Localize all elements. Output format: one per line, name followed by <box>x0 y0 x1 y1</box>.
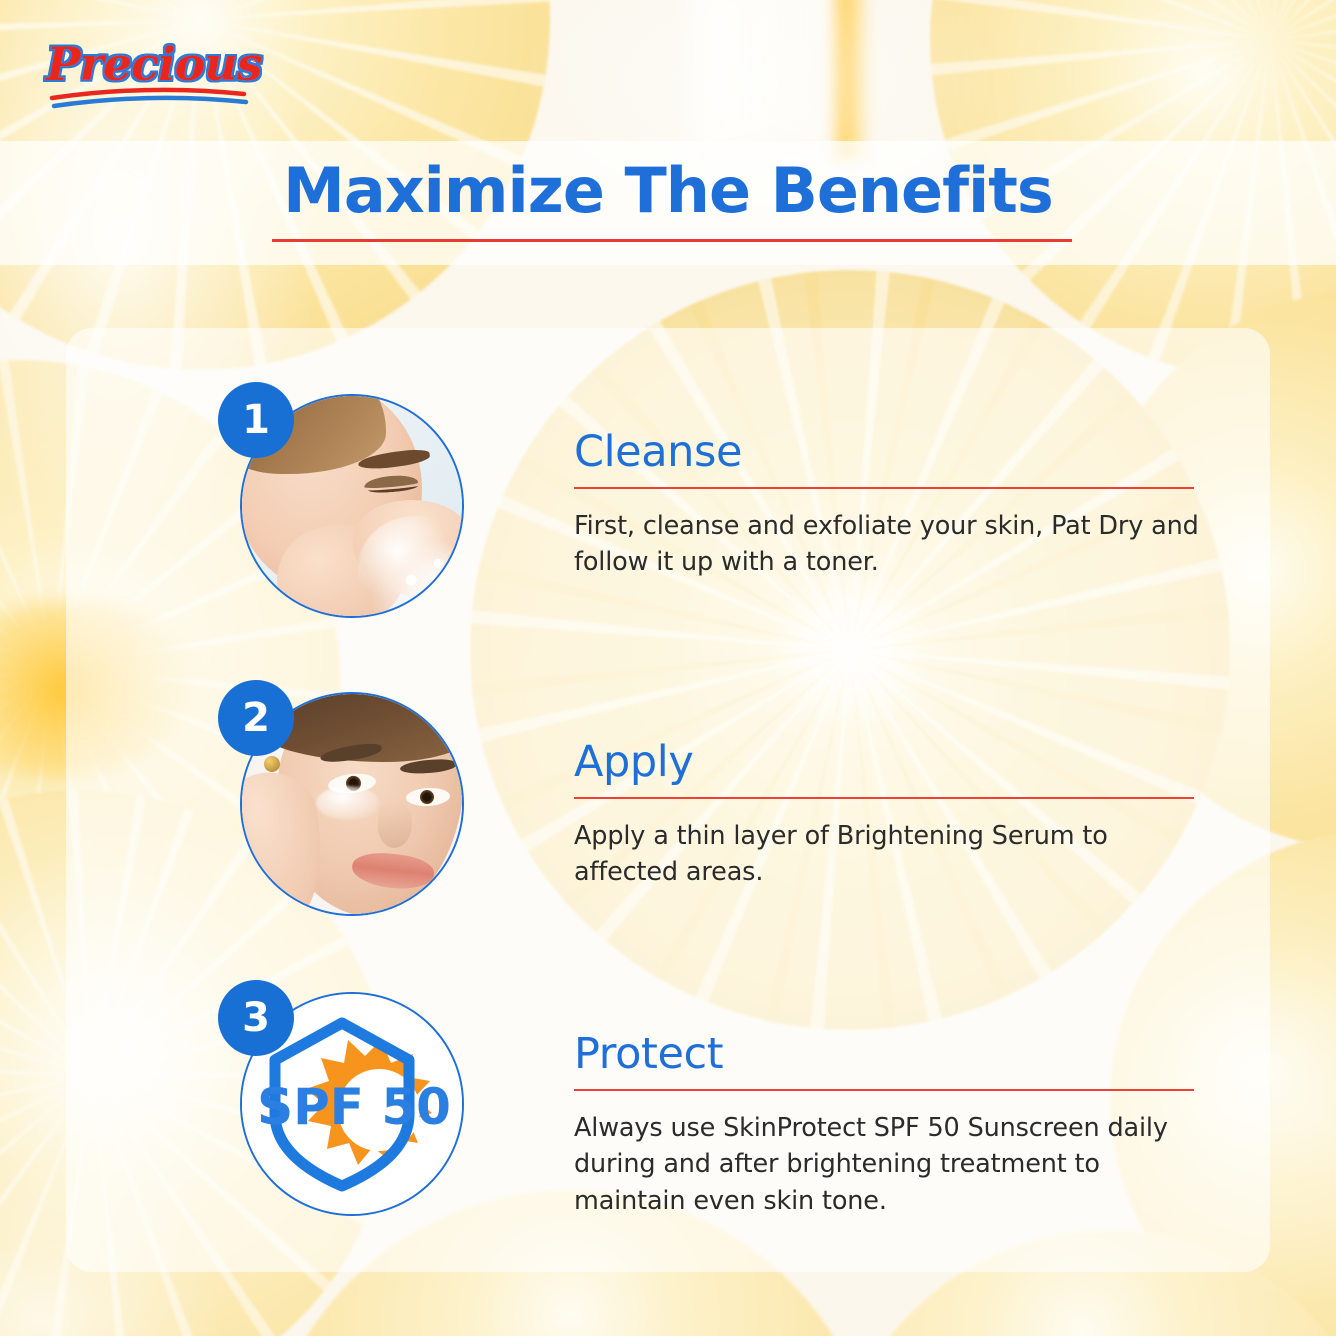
brand-logo: Precious ® <box>38 28 278 116</box>
step-2-media: 2 <box>218 680 458 920</box>
step-2-text: Apply Apply a thin layer of Brightening … <box>574 740 1214 891</box>
steps-card: 1 Cleanse First, cleanse and exfoliate y… <box>66 328 1270 1272</box>
step-number-badge-1: 1 <box>218 382 294 458</box>
step-1-heading-underline <box>574 487 1194 489</box>
title-underline <box>272 239 1072 242</box>
step-item-3: SPF 50 3 Protect Always use SkinProtect … <box>218 980 1214 1220</box>
step-1-body: First, cleanse and exfoliate your skin, … <box>574 508 1214 580</box>
spf-50-label: SPF 50 <box>257 1078 451 1136</box>
step-2-heading: Apply <box>574 740 1214 785</box>
step-3-body: Always use SkinProtect SPF 50 Sunscreen … <box>574 1110 1214 1219</box>
step-1-heading: Cleanse <box>574 430 1214 475</box>
svg-text:Precious: Precious <box>44 37 262 91</box>
step-3-heading-underline <box>574 1089 1194 1091</box>
step-2-heading-underline <box>574 797 1194 799</box>
step-3-text: Protect Always use SkinProtect SPF 50 Su… <box>574 1032 1214 1219</box>
step-number-badge-3: 3 <box>218 980 294 1056</box>
page-title: Maximize The Benefits <box>0 158 1336 223</box>
step-3-heading: Protect <box>574 1032 1214 1077</box>
step-number-badge-2: 2 <box>218 680 294 756</box>
step-item-1: 1 Cleanse First, cleanse and exfoliate y… <box>218 382 1214 622</box>
step-2-body: Apply a thin layer of Brightening Serum … <box>574 818 1214 890</box>
svg-text:®: ® <box>250 52 261 65</box>
step-1-text: Cleanse First, cleanse and exfoliate you… <box>574 430 1214 581</box>
infographic-page: Precious ® Maximize The Benefits <box>0 0 1336 1336</box>
step-1-media: 1 <box>218 382 458 622</box>
step-item-2: 2 Apply Apply a thin layer of Brightenin… <box>218 680 1214 920</box>
precious-logo-icon: Precious ® <box>38 28 278 116</box>
step-3-media: SPF 50 3 <box>218 980 458 1220</box>
